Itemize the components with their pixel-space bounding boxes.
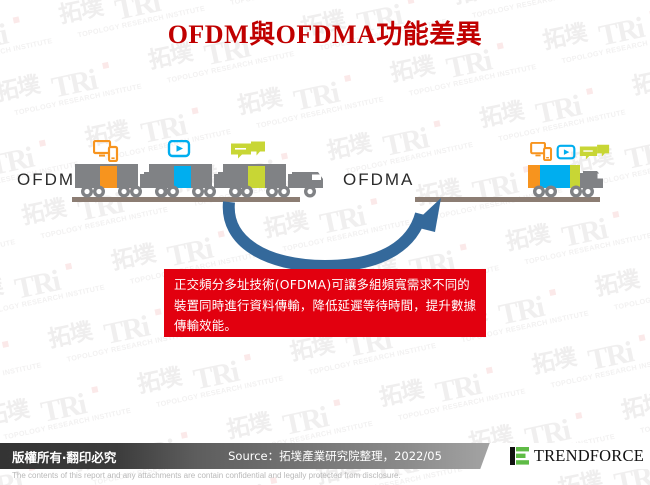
- trendforce-logo: TRENDFORCE: [498, 443, 650, 469]
- watermark-subtitle: TOPOLOGY RESEARCH INSTITUTE: [576, 477, 650, 485]
- devices-icon: [530, 142, 553, 166]
- watermark-tile: 拓墣TRiTOPOLOGY RESEARCH INSTITUTE: [642, 481, 650, 485]
- chat-bubbles-icon: [579, 144, 610, 166]
- watermark-tile: 拓墣TRiTOPOLOGY RESEARCH INSTITUTE: [400, 468, 566, 485]
- ofdma-label: OFDMA: [343, 170, 414, 190]
- diagram-area: OFDM OFDMA: [0, 0, 650, 440]
- truck-green: [222, 164, 346, 199]
- page-title: OFDM與OFDMA功能差異: [0, 14, 650, 51]
- devices-icon: [93, 140, 119, 167]
- title-bar: OFDM與OFDMA功能差異: [0, 14, 650, 51]
- truck-combined: [527, 164, 613, 199]
- trendforce-logo-text: TRENDFORCE: [534, 446, 644, 466]
- icon-group-devices: [93, 140, 119, 167]
- callout-text: 正交頻分多址技術(OFDMA)可讓多組頻寬需求不同的裝置同時進行資料傳輸，降低延…: [174, 275, 478, 337]
- trendforce-logo-mark: [510, 447, 529, 465]
- watermark-cjk: 拓墣: [160, 480, 210, 485]
- copyright-notice: 版權所有‧翻印必究: [0, 443, 126, 469]
- icon-group-combined: [530, 142, 610, 166]
- footer-bar: Source：拓墣產業研究院整理，2022/05 版權所有‧翻印必究 TREND…: [0, 443, 650, 469]
- disclaimer-text: The contents of this report and any atta…: [12, 471, 401, 480]
- video-play-icon: [556, 144, 576, 166]
- callout-box: 正交頻分多址技術(OFDMA)可讓多組頻寬需求不同的裝置同時進行資料傳輸，降低延…: [164, 269, 486, 337]
- icon-group-video: [167, 140, 191, 167]
- video-play-icon: [167, 140, 191, 167]
- ofdm-label: OFDM: [17, 170, 75, 190]
- slide-canvas: 拓墣TRiTOPOLOGY RESEARCH INSTITUTE拓墣TRiTOP…: [0, 0, 650, 485]
